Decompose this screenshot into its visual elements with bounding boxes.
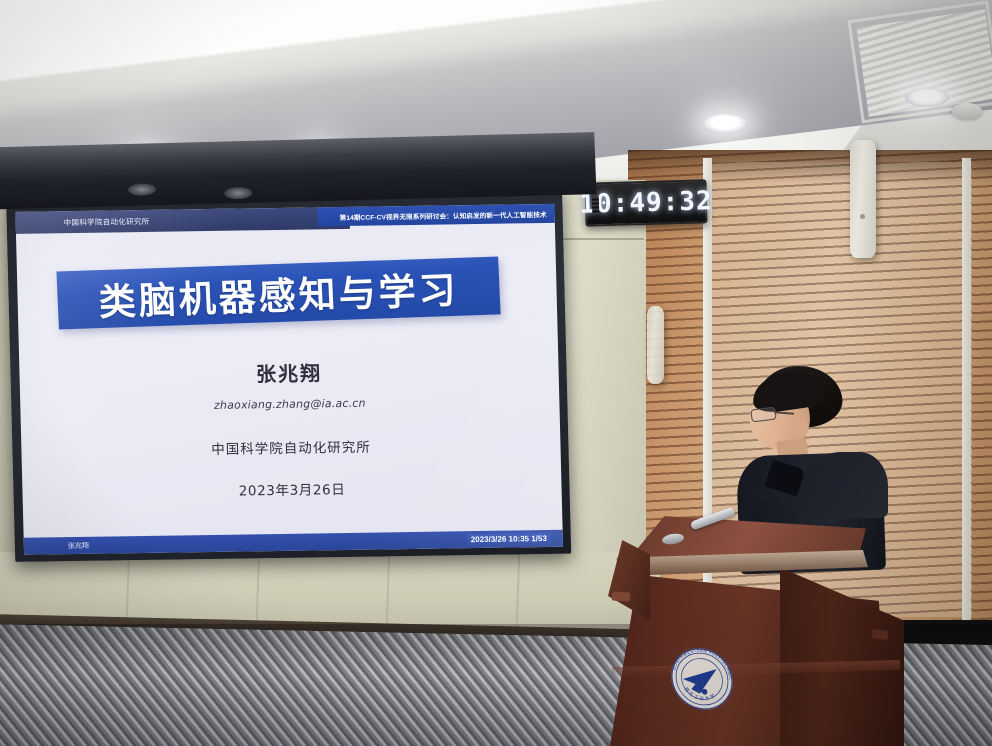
podium-handle-left[interactable] [612,592,630,602]
university-emblem: NORTHWESTERN POLYTECHNICAL UNIVERSITY 西北… [667,638,738,721]
podium-side-panel [780,556,904,746]
column-speaker [850,140,876,258]
column-speaker [647,306,664,384]
panel-jamb-right [962,158,971,620]
podium: NORTHWESTERN POLYTECHNICAL UNIVERSITY 西北… [604,498,904,746]
slide-header-left: 中国科学院自动化研究所 [15,207,350,234]
presentation-slide[interactable]: 中国科学院自动化研究所 第14期CCF-CV视界无限系列研讨会：认知启发的新一代… [15,204,563,555]
slide-footer-right: 2023/3/26 10:35 1/53 [467,533,551,545]
podium-left-bevel [608,540,650,620]
bezel-reflection [128,183,156,196]
slide-title: 类脑机器感知与学习 [97,260,459,326]
downlight-icon [905,88,949,107]
speaker-affiliation: 中国科学院自动化研究所 [21,433,560,461]
slide-header-right: 第14期CCF-CV视界无限系列研讨会：认知启发的新一代人工智能技术 [317,204,555,227]
clock-time-display: 10:49:32 [579,186,713,220]
clock-seconds-indicator [592,196,599,214]
slide-body: 张兆翔 zhaoxiang.zhang@ia.ac.cn 中国科学院自动化研究所… [19,354,562,503]
podium-handle-right[interactable] [872,629,889,640]
slide-footer-left: 张兆翔 [68,540,89,550]
bezel-reflection [224,187,252,200]
downlight-icon [703,114,747,133]
slide-header-right-text: 第14期CCF-CV视界无限系列研讨会：认知启发的新一代人工智能技术 [339,208,546,221]
conference-room-photo: 10:49:32 中国科学院自动化研究所 第14期CCF-CV视界无限系列研讨会… [0,0,992,746]
projection-screen[interactable]: 中国科学院自动化研究所 第14期CCF-CV视界无限系列研讨会：认知启发的新一代… [6,188,571,562]
smoke-detector-icon [952,103,982,119]
speaker-email: zhaoxiang.zhang@ia.ac.cn [20,394,559,415]
presentation-date: 2023年3月26日 [22,475,561,503]
speaker-name: 张兆翔 [19,354,559,391]
wall-top-shadow [628,150,992,184]
slide-header-left-text: 中国科学院自动化研究所 [64,215,150,227]
emblem-svg: NORTHWESTERN POLYTECHNICAL UNIVERSITY 西北… [667,638,738,721]
slide-title-banner: 类脑机器感知与学习 [56,256,500,329]
speaker-led-icon [860,214,865,219]
digital-wall-clock: 10:49:32 [584,179,707,226]
